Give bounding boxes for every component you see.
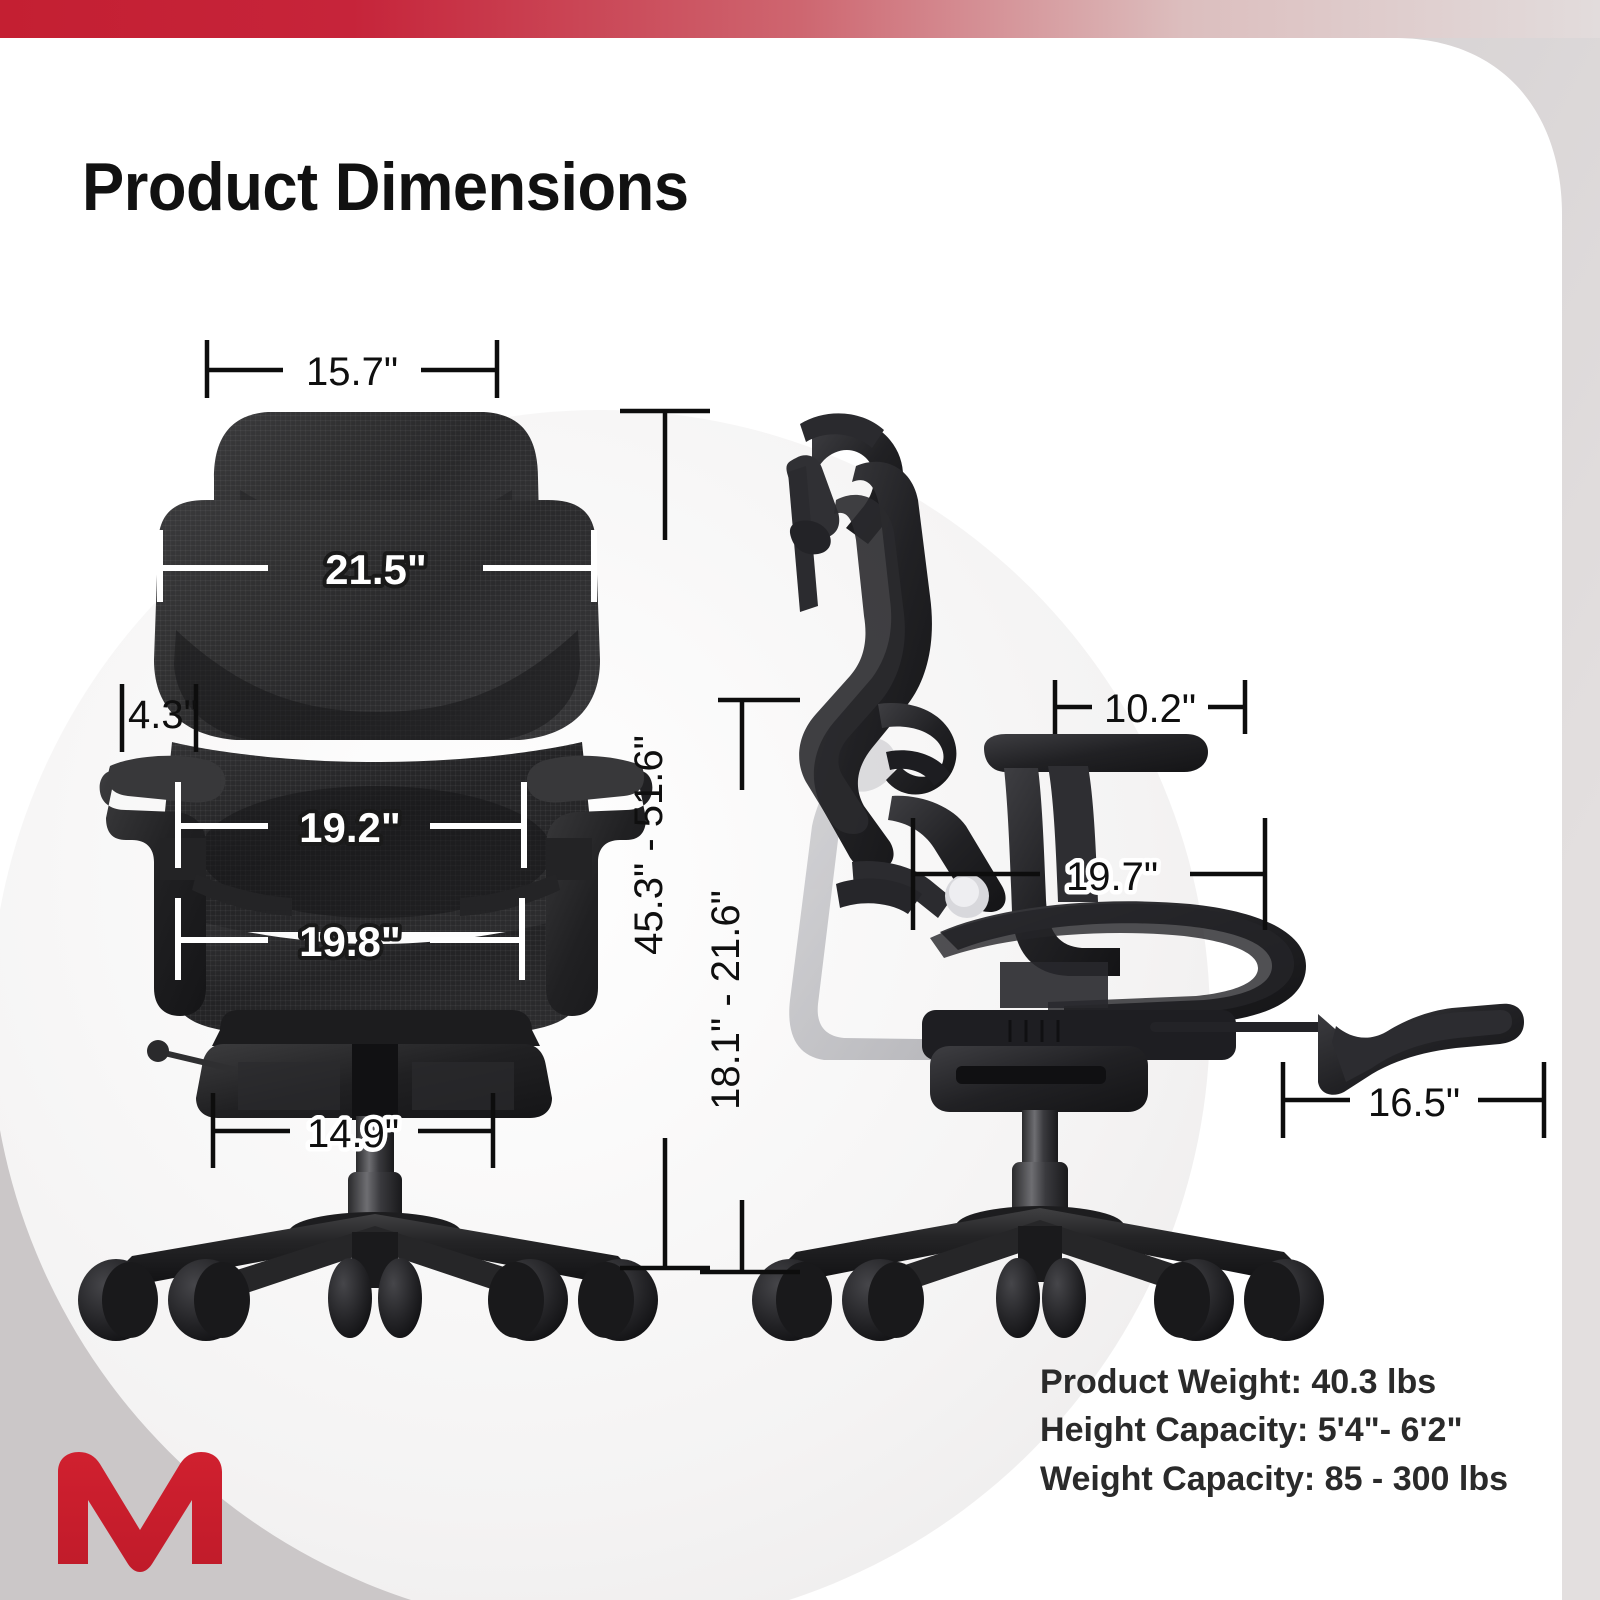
infographic-canvas: 15.7" 21.5" 4.3" 19.2" [0, 0, 1600, 1600]
dim-headrest-gap: 4.3" [122, 684, 198, 752]
spec-product-weight: Product Weight: 40.3 lbs [1040, 1358, 1508, 1406]
dim-lumbar-width-label: 19.2" [299, 804, 401, 851]
dim-seat-depth: 19.7" [913, 818, 1265, 930]
dim-backrest-width-label: 21.5" [325, 546, 427, 593]
dim-footrest-length-label: 16.5" [1368, 1081, 1460, 1125]
dim-armrest-depth: 10.2" [1055, 680, 1245, 734]
dim-base-width: 14.9" [213, 1093, 493, 1168]
page-title: Product Dimensions [82, 148, 689, 226]
dim-armrest-depth-label: 10.2" [1104, 687, 1196, 731]
dim-seat-height: 18.1" - 21.6" [700, 700, 800, 1272]
dim-headrest-gap-label: 4.3" [128, 693, 198, 737]
spec-height-capacity: Height Capacity: 5'4"- 6'2" [1040, 1406, 1508, 1454]
dim-lumbar-width: 19.2" [178, 782, 524, 868]
dim-footrest-length: 16.5" [1283, 1062, 1544, 1138]
dim-base-width-label: 14.9" [307, 1112, 399, 1156]
spec-list: Product Weight: 40.3 lbs Height Capacity… [1040, 1358, 1508, 1503]
dim-headrest-width: 15.7" [207, 340, 497, 398]
dim-seat-depth-label: 19.7" [1066, 855, 1158, 899]
dim-backrest-width: 21.5" [160, 530, 594, 602]
dim-seat-height-label: 18.1" - 21.6" [704, 890, 748, 1110]
dim-total-height-label: 45.3" - 51.6" [627, 735, 671, 955]
dim-headrest-width-label: 15.7" [306, 350, 398, 394]
dim-seat-width-label: 19.8" [299, 918, 401, 965]
spec-weight-capacity: Weight Capacity: 85 - 300 lbs [1040, 1455, 1508, 1503]
dim-total-height: 45.3" - 51.6" [620, 411, 710, 1268]
dim-seat-width: 19.8" [178, 898, 522, 980]
